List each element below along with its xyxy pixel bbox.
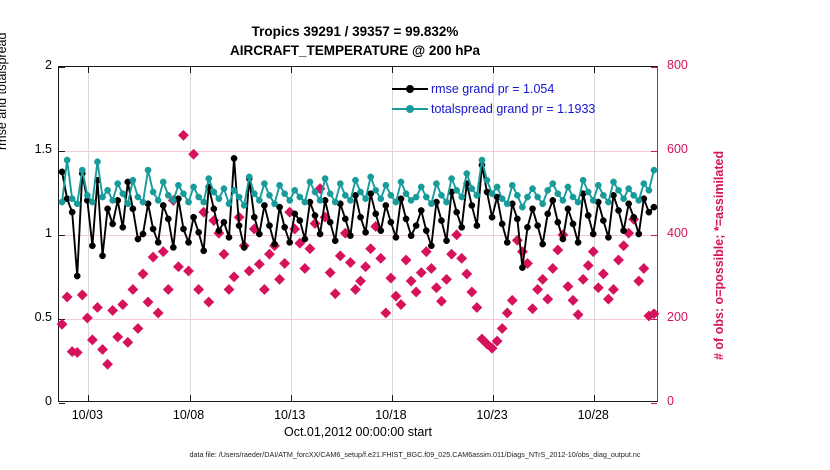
series-point	[494, 184, 500, 190]
series-point	[185, 239, 191, 245]
series-point	[631, 192, 637, 198]
series-point	[155, 239, 161, 245]
legend-marker-icon	[392, 83, 428, 95]
legend-item-totalspread[interactable]: totalspread grand pr = 1.1933	[392, 99, 595, 119]
series-point	[504, 239, 510, 245]
series-point	[418, 184, 424, 190]
series-point	[287, 239, 293, 245]
series-point	[221, 186, 227, 192]
series-point	[287, 197, 293, 203]
obs-diamond-marker	[184, 266, 194, 276]
obs-diamond-marker	[356, 276, 366, 286]
series-point	[540, 241, 546, 247]
y-axis-left-tick-label: 0	[8, 394, 52, 408]
series-point	[443, 238, 449, 244]
series-point	[266, 223, 272, 229]
y-axis-right-tick-label: 200	[667, 310, 713, 324]
y-axis-right-tick-label: 0	[667, 394, 713, 408]
series-point	[550, 181, 556, 187]
obs-diamond-marker	[153, 308, 163, 318]
series-point	[383, 182, 389, 188]
series-point	[388, 219, 394, 225]
series-point	[251, 191, 257, 197]
series-point	[555, 219, 561, 225]
series-point	[378, 196, 384, 202]
obs-diamond-marker	[528, 304, 538, 314]
x-axis-tick-label: 10/08	[149, 408, 229, 422]
series-point	[519, 204, 525, 210]
series-point	[590, 231, 596, 237]
series-point	[565, 206, 571, 212]
series-point	[140, 231, 146, 237]
obs-diamond-marker	[305, 244, 315, 254]
series-point	[170, 244, 176, 250]
obs-diamond-marker	[386, 273, 396, 283]
series-point	[206, 175, 212, 181]
series-point	[236, 223, 242, 229]
legend-marker-icon	[392, 103, 428, 115]
series-point	[590, 197, 596, 203]
series-point	[110, 221, 116, 227]
obs-diamond-marker	[608, 284, 618, 294]
obs-diamond-marker	[634, 276, 644, 286]
series-point	[282, 224, 288, 230]
series-point	[292, 211, 298, 217]
series-point	[626, 201, 632, 207]
x-axis-tick-label: 10/13	[250, 408, 330, 422]
series-point	[489, 214, 495, 220]
series-point	[120, 224, 126, 230]
series-point	[94, 159, 100, 165]
series-point	[499, 196, 505, 202]
series-point	[504, 201, 510, 207]
series-point	[438, 192, 444, 198]
x-axis-tick-label: 10/18	[351, 408, 431, 422]
obs-diamond-marker	[98, 345, 108, 355]
series-point	[221, 219, 227, 225]
obs-diamond-marker	[128, 284, 138, 294]
series-point	[479, 157, 485, 163]
series-point	[621, 196, 627, 202]
obs-diamond-marker	[614, 255, 624, 265]
obs-diamond-marker	[138, 269, 148, 279]
chart-page: Tropics 39291 / 39357 = 99.832% AIRCRAFT…	[0, 0, 830, 470]
obs-diamond-marker	[143, 297, 153, 307]
y-axis-right-tick-label: 800	[667, 58, 713, 72]
obs-diamond-marker	[103, 359, 113, 369]
series-point	[474, 223, 480, 229]
series-point	[388, 192, 394, 198]
series-point	[610, 179, 616, 185]
series-point	[550, 197, 556, 203]
obs-diamond-marker	[330, 289, 340, 299]
series-point	[104, 206, 110, 212]
obs-diamond-marker	[472, 303, 482, 313]
series-point	[261, 181, 267, 187]
series-point	[256, 197, 262, 203]
series-point	[165, 216, 171, 222]
obs-diamond-marker	[538, 274, 548, 284]
series-point	[226, 234, 232, 240]
series-point	[190, 184, 196, 190]
obs-diamond-marker	[229, 272, 239, 282]
series-point	[535, 194, 541, 200]
obs-diamond-marker	[335, 251, 345, 261]
obs-diamond-marker	[189, 149, 199, 159]
series-point	[595, 182, 601, 188]
obs-diamond-marker	[507, 295, 517, 305]
series-point	[180, 191, 186, 197]
obs-diamond-marker	[457, 253, 467, 263]
series-point	[130, 206, 136, 212]
x-axis-tick-label: 10/03	[47, 408, 127, 422]
series-point	[615, 207, 621, 213]
series-point	[362, 196, 368, 202]
series-point	[459, 224, 465, 230]
series-point	[155, 197, 161, 203]
obs-diamond-marker	[366, 244, 376, 254]
obs-diamond-marker	[300, 263, 310, 273]
series-point	[282, 191, 288, 197]
series-point	[600, 192, 606, 198]
obs-diamond-marker	[254, 259, 264, 269]
obs-diamond-marker	[280, 258, 290, 268]
series-point	[626, 186, 632, 192]
obs-diamond-marker	[259, 284, 269, 294]
obs-diamond-marker	[619, 241, 629, 251]
obs-diamond-marker	[431, 283, 441, 293]
series-point	[428, 243, 434, 249]
obs-diamond-marker	[163, 284, 173, 294]
series-point	[464, 170, 470, 176]
series-point	[271, 241, 277, 247]
obs-diamond-marker	[436, 296, 446, 306]
obs-diamond-marker	[578, 274, 588, 284]
series-point	[89, 199, 95, 205]
series-point	[104, 187, 110, 193]
obs-diamond-marker	[350, 284, 360, 294]
obs-diamond-marker	[381, 308, 391, 318]
series-point	[251, 214, 257, 220]
series-point	[509, 182, 515, 188]
series-point	[231, 155, 237, 161]
series-point	[448, 175, 454, 181]
series-point	[211, 206, 217, 212]
series-point	[469, 202, 475, 208]
legend-item-rmse[interactable]: rmse grand pr = 1.054	[392, 79, 595, 99]
series-point	[605, 234, 611, 240]
series-point	[565, 184, 571, 190]
series-point	[524, 194, 530, 200]
series-point	[140, 199, 146, 205]
obs-diamond-marker	[583, 261, 593, 271]
series-point	[342, 192, 348, 198]
obs-diamond-marker	[219, 249, 229, 259]
obs-diamond-marker	[133, 324, 143, 334]
series-point	[216, 228, 222, 234]
series-point	[423, 194, 429, 200]
series-point	[352, 177, 358, 183]
series-point	[428, 201, 434, 207]
obs-diamond-marker	[548, 263, 558, 273]
obs-diamond-marker	[593, 283, 603, 293]
obs-diamond-marker	[391, 291, 401, 301]
series-point	[605, 199, 611, 205]
x-axis-tick-label: 10/28	[553, 408, 633, 422]
legend-label: rmse grand pr = 1.054	[431, 79, 554, 99]
series-point	[570, 221, 576, 227]
series-point	[180, 226, 186, 232]
obs-marker-series	[57, 130, 659, 369]
obs-diamond-marker	[264, 249, 274, 259]
series-point	[332, 238, 338, 244]
series-point	[524, 224, 530, 230]
series-point	[570, 194, 576, 200]
series-point	[600, 217, 606, 223]
series-point	[646, 209, 652, 215]
series-point	[236, 194, 242, 200]
series-point	[150, 226, 156, 232]
x-axis-tick-label: 10/23	[452, 408, 532, 422]
series-point	[398, 179, 404, 185]
obs-diamond-marker	[275, 274, 285, 284]
data-file-footer: data file: /Users/raeder/DAI/ATM_forcXX/…	[0, 450, 830, 459]
obs-diamond-marker	[416, 268, 426, 278]
obs-diamond-marker	[108, 305, 118, 315]
series-point	[555, 191, 561, 197]
obs-diamond-marker	[426, 263, 436, 273]
obs-diamond-marker	[447, 249, 457, 259]
series-point	[317, 231, 323, 237]
y-axis-left-tick-label: 1	[8, 226, 52, 240]
series-point	[211, 189, 217, 195]
series-point	[403, 216, 409, 222]
series-point	[150, 189, 156, 195]
series-point	[357, 189, 363, 195]
series-point	[170, 197, 176, 203]
series-point	[423, 228, 429, 234]
series-point	[165, 192, 171, 198]
y-axis-right-tick-label: 400	[667, 226, 713, 240]
obs-diamond-marker	[224, 284, 234, 294]
series-point	[514, 192, 520, 198]
series-point	[580, 177, 586, 183]
series-point	[64, 157, 70, 163]
obs-diamond-marker	[639, 263, 649, 273]
series-point	[646, 187, 652, 193]
series-point	[545, 187, 551, 193]
series-point	[459, 194, 465, 200]
series-point	[413, 223, 419, 229]
obs-diamond-marker	[376, 253, 386, 263]
obs-diamond-marker	[118, 300, 128, 310]
obs-diamond-marker	[553, 245, 563, 255]
obs-diamond-marker	[82, 313, 92, 323]
series-point	[74, 273, 80, 279]
series-point	[636, 231, 642, 237]
series-point	[454, 187, 460, 193]
series-point	[474, 192, 480, 198]
series-point	[357, 214, 363, 220]
series-point	[216, 196, 222, 202]
series-point	[317, 197, 323, 203]
series-point	[322, 175, 328, 181]
series-point	[84, 192, 90, 198]
obs-diamond-marker	[325, 268, 335, 278]
series-point	[130, 177, 136, 183]
series-point	[575, 239, 581, 245]
series-point	[327, 219, 333, 225]
series-point	[433, 181, 439, 187]
series-point	[631, 214, 637, 220]
obs-diamond-marker	[467, 287, 477, 297]
obs-diamond-marker	[244, 266, 254, 276]
series-point	[383, 202, 389, 208]
series-point	[226, 201, 232, 207]
series-point	[585, 189, 591, 195]
series-point	[292, 187, 298, 193]
series-point	[99, 253, 105, 259]
obs-diamond-marker	[452, 230, 462, 240]
series-point	[615, 187, 621, 193]
series-point	[347, 197, 353, 203]
series-point	[307, 179, 313, 185]
y-axis-left-tick-label: 0.5	[8, 310, 52, 324]
obs-diamond-marker	[401, 255, 411, 265]
series-point	[190, 214, 196, 220]
series-point	[69, 196, 75, 202]
series-point	[327, 191, 333, 197]
y-axis-left-tick-label: 1.5	[8, 142, 52, 156]
series-point	[418, 207, 424, 213]
series-point	[621, 228, 627, 234]
series-point	[276, 182, 282, 188]
series-point	[393, 199, 399, 205]
obs-diamond-marker	[502, 308, 512, 318]
series-point	[59, 199, 65, 205]
series-point	[438, 217, 444, 223]
obs-diamond-marker	[173, 262, 183, 272]
series-point	[99, 194, 105, 200]
obs-diamond-marker	[462, 269, 472, 279]
series-point	[160, 202, 166, 208]
obs-diamond-marker	[204, 297, 214, 307]
series-point	[540, 201, 546, 207]
obs-diamond-marker	[563, 282, 573, 292]
series-point	[332, 199, 338, 205]
obs-diamond-marker	[598, 269, 608, 279]
obs-diamond-marker	[77, 290, 87, 300]
series-point	[135, 236, 141, 242]
series-point	[89, 243, 95, 249]
series-point	[362, 229, 368, 235]
obs-diamond-marker	[411, 287, 421, 297]
series-point	[312, 212, 318, 218]
series-point	[201, 248, 207, 254]
obs-diamond-marker	[406, 276, 416, 286]
series-point	[535, 223, 541, 229]
obs-diamond-marker	[62, 292, 72, 302]
series-point	[489, 191, 495, 197]
series-point	[529, 186, 535, 192]
series-point	[302, 199, 308, 205]
obs-diamond-marker	[87, 335, 97, 345]
obs-diamond-marker	[568, 295, 578, 305]
series-point	[499, 221, 505, 227]
series-point	[175, 182, 181, 188]
series-point	[241, 202, 247, 208]
obs-diamond-marker	[497, 324, 507, 334]
series-point	[529, 206, 535, 212]
series-point	[59, 169, 65, 175]
series-point	[241, 244, 247, 250]
series-point	[454, 209, 460, 215]
series-point	[469, 186, 475, 192]
series-point	[651, 167, 657, 173]
series-point	[651, 204, 657, 210]
obs-diamond-marker	[442, 274, 452, 284]
series-point	[74, 201, 80, 207]
obs-diamond-marker	[543, 294, 553, 304]
obs-diamond-marker	[194, 284, 204, 294]
obs-diamond-marker	[345, 258, 355, 268]
series-point	[373, 187, 379, 193]
obs-diamond-marker	[178, 130, 188, 140]
series-point	[585, 212, 591, 218]
series-point	[484, 177, 490, 183]
series-point	[201, 199, 207, 205]
series-point	[373, 211, 379, 217]
series-point	[312, 189, 318, 195]
series-point	[560, 236, 566, 242]
series-point	[519, 265, 525, 271]
series-point	[261, 202, 267, 208]
series-point	[160, 179, 166, 185]
series-point	[342, 216, 348, 222]
obs-diamond-marker	[92, 303, 102, 313]
series-point	[79, 167, 85, 173]
series-point	[545, 211, 551, 217]
series-point	[120, 191, 126, 197]
obs-diamond-marker	[533, 284, 543, 294]
series-point	[266, 192, 272, 198]
series-point	[408, 233, 414, 239]
series-point	[302, 236, 308, 242]
obs-diamond-marker	[588, 247, 598, 257]
series-point	[196, 194, 202, 200]
series-point	[69, 209, 75, 215]
obs-diamond-marker	[573, 310, 583, 320]
series-point	[560, 197, 566, 203]
obs-diamond-marker	[148, 252, 158, 262]
series-point	[271, 201, 277, 207]
series-point	[256, 231, 262, 237]
obs-diamond-marker	[158, 247, 168, 257]
series-point	[135, 194, 141, 200]
obs-diamond-marker	[123, 337, 133, 347]
obs-diamond-marker	[517, 247, 527, 257]
series-point	[110, 197, 116, 203]
series-point	[413, 194, 419, 200]
series-point	[393, 234, 399, 240]
series-point	[185, 199, 191, 205]
series-point	[115, 181, 121, 187]
series-point	[196, 229, 202, 235]
series-point	[297, 217, 303, 223]
series-point	[297, 194, 303, 200]
legend-label: totalspread grand pr = 1.1933	[431, 99, 595, 119]
obs-diamond-marker	[396, 300, 406, 310]
